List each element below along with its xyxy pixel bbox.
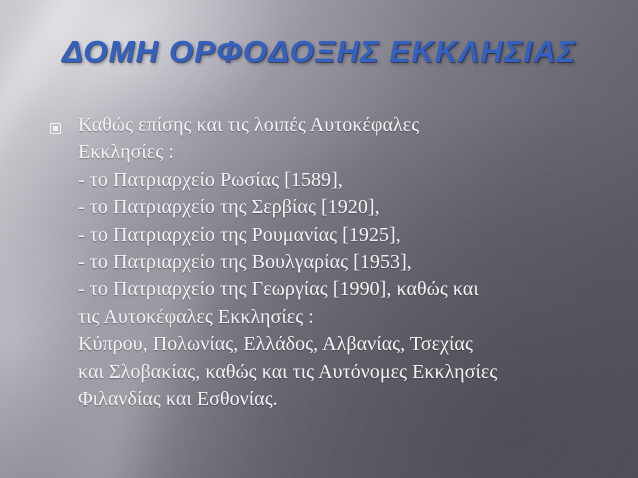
body-text-line: Καθώς επίσης και τις λοιπές Αυτοκέφαλες [78,112,619,139]
body-text-line: - το Πατριαρχείο της Βουλγαρίας [1953], [78,249,619,276]
body-text-line: τις Αυτοκέφαλες Εκκλησίες : [78,304,619,331]
body-text-line: Κύπρου, Πολωνίας, Ελλάδος, Αλβανίας, Τσε… [78,331,619,358]
square-bullet-icon [50,123,61,134]
body-text-line: - το Πατριαρχείο Ρωσίας [1589], [78,167,619,194]
body-text-line: Εκκλησίες : [78,139,619,166]
slide-title: ΔΟΜΗ ΟΡΦΟΔΟΞΗΣ ΕΚΚΛΗΣΙΑΣ [0,34,638,70]
body-text-line: - το Πατριαρχείο της Γεωργίας [1990], κα… [78,276,619,303]
body-text-line: Φιλανδίας και Εσθονίας. [78,386,619,413]
slide-body: Καθώς επίσης και τις λοιπές ΑυτοκέφαλεςΕ… [44,112,619,413]
body-text-line: και Σλοβακίας, καθώς και τις Αυτόνομες Ε… [78,359,619,386]
bullet-list-item: Καθώς επίσης και τις λοιπές ΑυτοκέφαλεςΕ… [44,112,619,413]
presentation-slide: ΔΟΜΗ ΟΡΦΟΔΟΞΗΣ ΕΚΚΛΗΣΙΑΣ Καθώς επίσης κα… [0,0,638,478]
body-text-lines: Καθώς επίσης και τις λοιπές ΑυτοκέφαλεςΕ… [44,112,619,413]
body-text-line: - το Πατριαρχείο της Σερβίας [1920], [78,194,619,221]
body-text-line: - το Πατριαρχείο της Ρουμανίας [1925], [78,222,619,249]
